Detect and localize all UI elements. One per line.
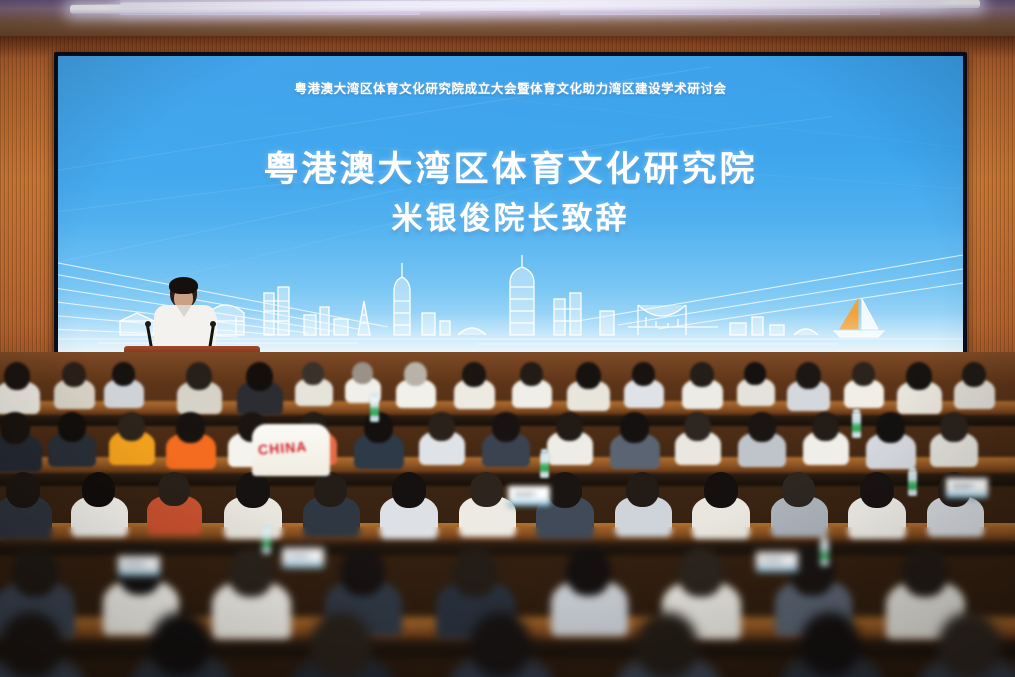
audience-member-head (962, 362, 986, 387)
audience-member (150, 612, 264, 677)
audience-member-head (902, 548, 948, 597)
audience-member (636, 612, 754, 677)
audience-area: CHINA 姓名席卡姓名席卡姓名席卡姓名席卡姓名席卡 (0, 352, 1015, 677)
audience-member (118, 412, 169, 463)
name-placard: 姓名席卡 (756, 552, 798, 572)
audience-member-head (632, 362, 655, 386)
audience-member (704, 472, 769, 537)
name-placard: 姓名席卡 (946, 478, 988, 498)
audience-member-head (352, 362, 373, 384)
name-placard: 姓名席卡 (282, 548, 324, 568)
water-bottle (908, 470, 917, 496)
audience-member (6, 472, 71, 537)
audience-member-head (118, 412, 145, 441)
audience-member (796, 362, 844, 410)
audience-member-head (452, 548, 498, 597)
audience-member (62, 362, 108, 408)
audience-member-head (62, 362, 86, 387)
audience-member-head (228, 548, 274, 597)
name-placard-text: 姓名席卡 (953, 483, 975, 490)
water-bottle-cap (853, 409, 860, 413)
audience-member (314, 472, 377, 535)
name-placard: 姓名席卡 (118, 556, 160, 576)
audience-member-head (566, 548, 611, 596)
audience-member (302, 362, 344, 404)
audience-member (690, 362, 736, 408)
audience-member (112, 362, 156, 406)
screen-title-block: 粤港澳大湾区体育文化研究院 米银俊院长致辞 (58, 148, 963, 239)
audience-member (938, 612, 1015, 677)
audience-member-head (12, 548, 58, 597)
water-bottle-cap (541, 449, 548, 453)
china-jacket-text: CHINA (258, 438, 308, 457)
screen-title-line-2: 米银俊院长致辞 (58, 200, 963, 239)
audience-member (576, 362, 624, 410)
audience-member-head (0, 612, 62, 677)
ceiling (0, 0, 1015, 40)
audience-member (176, 412, 231, 467)
name-placard: 姓名席卡 (508, 486, 550, 506)
water-bottle-cap (821, 537, 828, 541)
screen-light-streak (478, 96, 963, 151)
audience-member-head (470, 472, 503, 507)
audience-member-head (620, 412, 649, 443)
audience-member-head (520, 362, 543, 386)
audience-member (520, 362, 564, 406)
audience-member (632, 362, 676, 406)
name-placard-text: 姓名席卡 (125, 561, 147, 568)
audience-member (310, 612, 428, 677)
audience-member-head (636, 612, 698, 677)
audience-member (186, 362, 235, 411)
water-bottle-cap (263, 525, 270, 529)
audience-member-head (82, 472, 115, 507)
audience-member-head (246, 362, 273, 391)
china-jacket: CHINA (252, 424, 330, 476)
audience-member-head (938, 612, 1000, 677)
audience-member (246, 362, 297, 413)
audience-member (782, 472, 845, 535)
name-placard-text: 姓名席卡 (515, 491, 537, 498)
audience-member-head (176, 412, 205, 443)
audience-member (492, 412, 545, 465)
audience-member-head (800, 612, 860, 676)
audience-member-head (4, 362, 30, 390)
conference-hall-photo: 粤港澳大湾区体育文化研究院成立大会暨体育文化助力湾区建设学术研讨会 粤港澳大湾区… (0, 0, 1015, 677)
audience-member-head (470, 612, 531, 677)
audience-member-head (310, 612, 372, 677)
audience-member-head (684, 412, 711, 441)
audience-member-head (392, 472, 426, 508)
audience-member (744, 362, 786, 404)
audience-member-head (236, 472, 270, 508)
audience-member (404, 362, 448, 406)
audience-member-head (704, 472, 738, 508)
audience-member-head (492, 412, 520, 442)
audience-member (158, 472, 219, 533)
water-bottle (262, 528, 271, 554)
audience-member-head (626, 472, 659, 507)
audience-member-head (0, 412, 30, 444)
name-placard-text: 姓名席卡 (289, 553, 311, 560)
audience-member (392, 472, 457, 537)
audience-member (684, 412, 735, 463)
audience-member-head (940, 412, 968, 442)
audience-member (800, 612, 914, 677)
audience-member-head (906, 362, 932, 390)
audience-member-head (150, 612, 210, 676)
audience-member (556, 412, 607, 463)
audience-member-head (404, 362, 427, 386)
audience-member-head (744, 362, 766, 385)
audience-member (748, 412, 801, 465)
audience-member (620, 412, 675, 467)
audience-member-head (748, 412, 776, 442)
speaker-hair (169, 277, 198, 294)
audience-member (58, 412, 111, 465)
audience-member (470, 612, 586, 677)
audience-member-head (186, 362, 212, 390)
audience-member-head (576, 362, 601, 389)
water-bottle (540, 452, 549, 478)
audience-member-head (158, 472, 190, 506)
audience-member-head (428, 412, 455, 441)
microphone-head-icon (210, 321, 216, 327)
water-bottle (852, 412, 861, 438)
audience-member (906, 362, 955, 411)
audience-member-head (852, 362, 875, 386)
audience-member-head (812, 412, 839, 441)
audience-member-head (340, 548, 385, 596)
audience-member (428, 412, 479, 463)
audience-member-head (678, 548, 724, 597)
audience-member-head (556, 412, 583, 441)
audience-member (548, 472, 613, 537)
screen-title-line-1: 粤港澳大湾区体育文化研究院 (58, 148, 963, 192)
audience-member-head (690, 362, 714, 387)
audience-member (940, 412, 993, 465)
audience-member-head (876, 412, 905, 443)
audience-member-head (314, 472, 347, 507)
audience-member (4, 362, 53, 411)
audience-member (462, 362, 508, 408)
water-bottle (370, 396, 379, 422)
audience-member (626, 472, 689, 535)
name-placard-text: 姓名席卡 (763, 557, 785, 564)
audience-member (852, 362, 896, 406)
audience-member-head (548, 472, 582, 508)
water-bottle-cap (909, 467, 916, 471)
audience-member (876, 412, 931, 467)
water-bottle (820, 540, 829, 566)
microphone-head-icon (145, 321, 151, 327)
audience-member-head (782, 472, 815, 507)
water-bottle-cap (371, 393, 378, 397)
audience-member-head (796, 362, 821, 389)
audience-member-head (6, 472, 40, 508)
audience-member-head (462, 362, 486, 387)
audience-member (82, 472, 145, 535)
audience-member-head (302, 362, 324, 385)
audience-member (962, 362, 1008, 408)
audience-member-head (860, 472, 894, 508)
audience-member-head (58, 412, 86, 442)
audience-member-head (112, 362, 135, 386)
audience-member (0, 612, 118, 677)
screen-headline-text: 粤港澳大湾区体育文化研究院成立大会暨体育文化助力湾区建设学术研讨会 (58, 78, 963, 97)
